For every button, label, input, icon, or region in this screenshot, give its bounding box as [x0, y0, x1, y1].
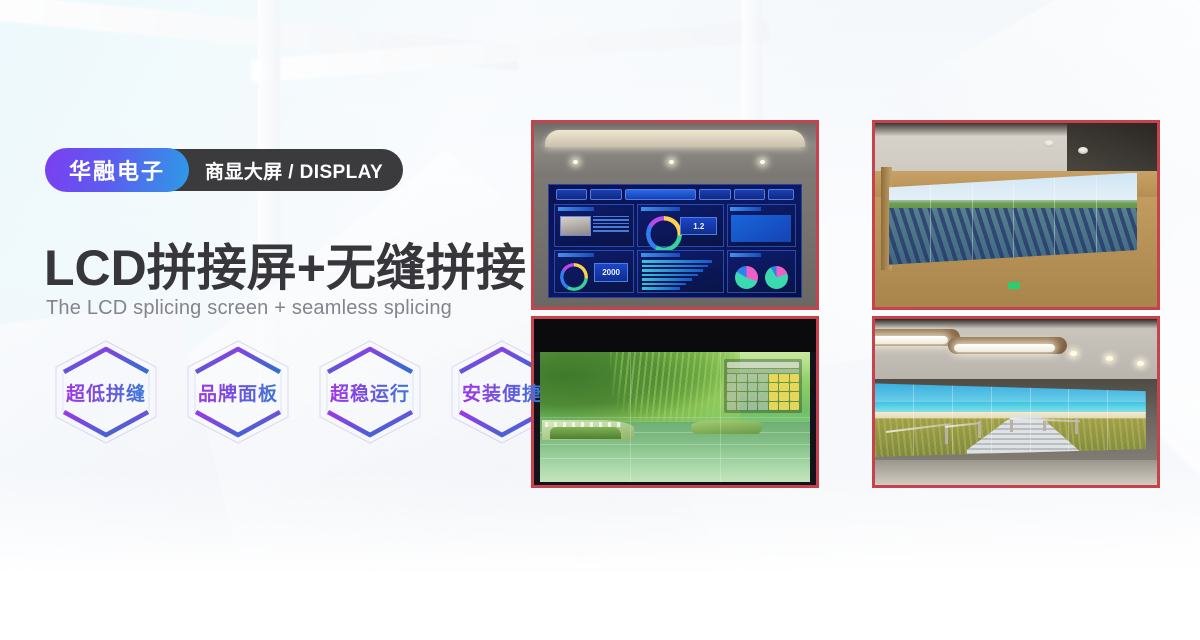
dashboard-top-nav: [554, 187, 796, 202]
video-wall-screen: [889, 173, 1137, 265]
feature-hexagon-ultra-low-seam: 超低拼缝: [48, 336, 164, 448]
dashboard-panel-pies: [727, 250, 796, 293]
feature-label: 超稳运行: [330, 379, 410, 406]
calendar-title: [727, 362, 800, 368]
feature-label: 超低拼缝: [66, 379, 146, 406]
page-title: LCD拼接屏+无缝拼接: [44, 228, 526, 300]
photo-scene: [875, 319, 1157, 485]
dashboard-panel-grid: 1.2 2000: [554, 204, 796, 294]
page-subtitle: The LCD splicing screen + seamless splic…: [46, 297, 452, 320]
product-photo-willow-pond-wall: [531, 316, 819, 488]
calendar-overlay: [724, 359, 803, 413]
feature-hexagon-ultra-stable-operation: 超稳运行: [312, 336, 428, 448]
product-photo-beach-boardwalk-wall: [872, 316, 1160, 488]
brand-badge-row: 华融电子 商显大屏 / DISPLAY: [45, 148, 403, 192]
dashboard-panel-media: [554, 204, 634, 247]
dashboard-panel-bars: [637, 250, 724, 293]
feature-hexagon-row: 超低拼缝 品牌面板: [48, 336, 560, 448]
dashboard-panel-donut: 1.2: [637, 204, 724, 247]
feature-hexagon-brand-panel: 品牌面板: [180, 336, 296, 448]
dashboard-kpi-secondary: 2000: [594, 263, 628, 281]
dashboard-kpi-value: 1.2: [680, 217, 717, 235]
brand-badge: 华融电子: [45, 148, 189, 192]
product-photo-solar-farm-wall: [872, 120, 1160, 310]
dashboard-panel-donut-secondary: 2000: [554, 250, 634, 293]
calendar-day-grid: [727, 374, 800, 410]
product-banner: 华融电子 商显大屏 / DISPLAY LCD拼接屏+无缝拼接 The LCD …: [0, 0, 1200, 640]
background-bottom-fade: [0, 470, 1200, 640]
video-wall-screen: [875, 379, 1146, 457]
feature-label: 品牌面板: [198, 379, 278, 406]
video-wall-screen: 1.2 2000: [548, 184, 802, 298]
photo-scene: 1.2 2000: [534, 123, 816, 307]
dashboard-panel-flow: [727, 204, 796, 247]
feature-label: 安装便捷: [462, 379, 542, 406]
photo-scene: [875, 123, 1157, 307]
product-photo-dashboard-wall: 1.2 2000: [531, 120, 819, 310]
video-wall-screen: [540, 352, 811, 481]
photo-scene: [534, 319, 816, 485]
calendar-weekday-header: [727, 369, 800, 373]
